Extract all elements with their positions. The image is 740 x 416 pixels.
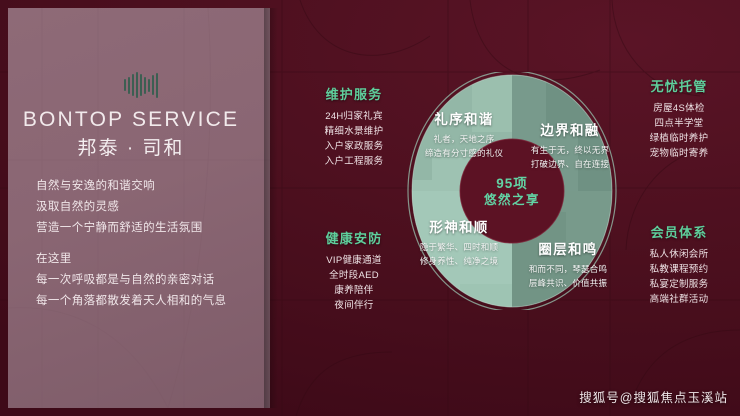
feature-group-maintenance: 维护服务 24H归家礼宾 精细水景维护 入户家政服务 入户工程服务 (295, 84, 413, 169)
slide-canvas: BONTOP SERVICE 邦泰 · 司和 自然与安逸的和谐交响 汲取自然的灵… (0, 0, 740, 416)
bontop-bars-icon (118, 70, 164, 100)
feature-group-custody: 无忧托管 房屋4S体检 四点半学堂 绿植临时养护 宠物临时寄养 (620, 76, 738, 161)
feature-item: 私教课程预约 (620, 262, 738, 277)
feature-group-member: 会员体系 私人休闲会所 私教课程预约 私宴定制服务 高端社群活动 (620, 222, 738, 307)
feature-item: 全时段AED (295, 268, 413, 283)
brand-copy-line: 汲取自然的灵感 (36, 197, 246, 218)
panel-edge-shadow (264, 8, 278, 408)
feature-item: 精细水景维护 (295, 124, 413, 139)
brand-copy-line: 自然与安逸的和谐交响 (36, 176, 246, 197)
feature-title: 会员体系 (620, 222, 738, 241)
feature-item: 入户工程服务 (295, 154, 413, 169)
feature-item: 四点半学堂 (620, 116, 738, 131)
watermark: 搜狐号@搜狐焦点玉溪站 (579, 387, 728, 406)
brand-copy-line: 在这里 (36, 249, 246, 270)
brand-copy-line: 每一个角落都散发着天人相和的气息 (36, 291, 246, 312)
brand-copy-line: 每一次呼吸都是与自然的亲密对话 (36, 270, 246, 291)
feature-item: 私宴定制服务 (620, 277, 738, 292)
center-count: 95项 (460, 176, 564, 192)
brand-copy-line: 营造一个宁静而舒适的生活氛围 (36, 218, 246, 239)
feature-item: 私人休闲会所 (620, 247, 738, 262)
brand-name-cn: 邦泰 · 司和 (0, 133, 262, 160)
feature-title: 维护服务 (295, 84, 413, 103)
feature-item: 夜间伴行 (295, 298, 413, 313)
feature-title: 健康安防 (295, 228, 413, 247)
feature-item: 康养陪伴 (295, 283, 413, 298)
diagram-center-label: 95项 悠然之享 (460, 176, 564, 208)
feature-item: VIP健康通道 (295, 253, 413, 268)
feature-item: 24H归家礼宾 (295, 109, 413, 124)
feature-item: 高端社群活动 (620, 292, 738, 307)
feature-item: 绿植临时养护 (620, 131, 738, 146)
feature-group-health: 健康安防 VIP健康通道 全时段AED 康养陪伴 夜间伴行 (295, 228, 413, 313)
feature-item: 入户家政服务 (295, 139, 413, 154)
feature-title: 无忧托管 (620, 76, 738, 95)
brand-copy-block: 自然与安逸的和谐交响 汲取自然的灵感 营造一个宁静而舒适的生活氛围 在这里 每一… (36, 176, 246, 312)
feature-item: 宠物临时寄养 (620, 146, 738, 161)
feature-item: 房屋4S体检 (620, 101, 738, 116)
brand-name-en: BONTOP SERVICE (0, 108, 262, 132)
copy-spacer (36, 239, 246, 249)
center-subtitle: 悠然之享 (460, 192, 564, 208)
